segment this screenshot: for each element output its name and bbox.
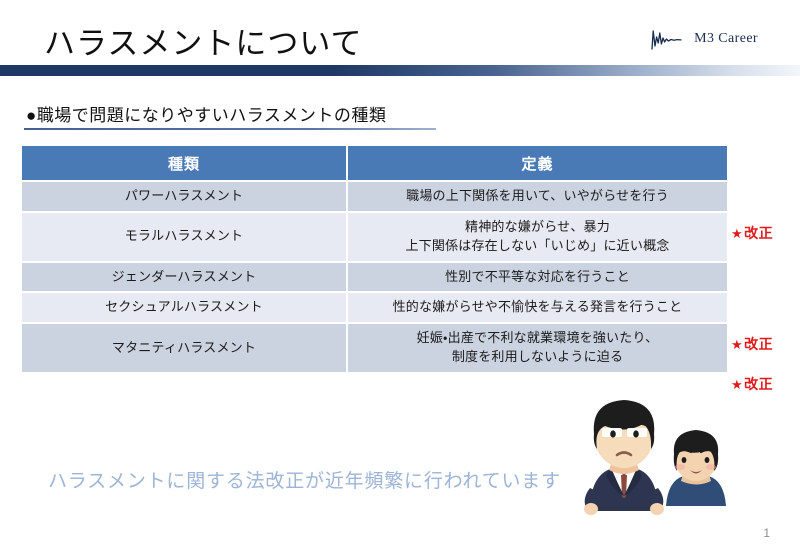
header-divider-bar — [0, 65, 800, 76]
subordinate-figure — [666, 430, 726, 506]
amendment-label: 改正 — [744, 336, 773, 352]
definition-line: 性的な嫌がらせや不愉快を与える発言を行うこと — [354, 298, 721, 317]
amendment-label: 改正 — [744, 225, 773, 241]
table-row: ジェンダーハラスメント性別で不平等な対応を行うこと — [22, 262, 727, 293]
cell-definition: 妊娠・出産で不利な就業環境を強いたり、制度を利用しないように迫る — [347, 323, 727, 372]
definition-line: 精神的な嫌がらせ、暴力 — [354, 218, 721, 237]
table-row: パワーハラスメント職場の上下関係を用いて、いやがらせを行う — [22, 181, 727, 212]
cell-definition: 性別で不平等な対応を行うこと — [347, 262, 727, 293]
brand-logo: M3 Career — [650, 28, 758, 50]
definition-line: 職場の上下関係を用いて、いやがらせを行う — [354, 187, 721, 206]
cell-harassment-type: パワーハラスメント — [22, 181, 347, 212]
cell-definition: 性的な嫌がらせや不愉快を与える発言を行うこと — [347, 292, 727, 323]
star-icon: ★ — [731, 337, 743, 352]
table-row: セクシュアルハラスメント性的な嫌がらせや不愉快を与える発言を行うこと — [22, 292, 727, 323]
definition-line: 制度を利用しないように迫る — [354, 348, 721, 367]
page-number: 1 — [763, 526, 770, 540]
definition-line: 妊娠・出産で不利な就業環境を強いたり、 — [354, 329, 721, 348]
page-title: ハラスメントについて — [44, 18, 362, 63]
section-heading-underline — [24, 128, 436, 130]
boss-figure — [584, 400, 664, 515]
column-header-type: 種類 — [22, 146, 347, 181]
definition-line: 上下関係は存在しない「いじめ」に近い概念 — [354, 237, 721, 256]
definition-line: 性別で不平等な対応を行うこと — [354, 268, 721, 287]
cell-harassment-type: マタニティハラスメント — [22, 323, 347, 372]
angry-boss-and-subordinate-illustration — [570, 378, 740, 533]
waveform-pulse-icon — [650, 28, 686, 50]
footer-message: ハラスメントに関する法改正が近年頻繁に行われています — [48, 466, 561, 493]
amendment-badge: ★改正 — [731, 334, 773, 354]
table-row: マタニティハラスメント妊娠・出産で不利な就業環境を強いたり、制度を利用しないよう… — [22, 323, 727, 372]
table-row: モラルハラスメント精神的な嫌がらせ、暴力上下関係は存在しない「いじめ」に近い概念 — [22, 212, 727, 262]
column-header-definition: 定義 — [347, 146, 727, 181]
cell-harassment-type: ジェンダーハラスメント — [22, 262, 347, 293]
amendment-badge: ★改正 — [731, 223, 773, 243]
section-heading: ●職場で問題になりやすいハラスメントの種類 — [26, 101, 386, 126]
cell-definition: 精神的な嫌がらせ、暴力上下関係は存在しない「いじめ」に近い概念 — [347, 212, 727, 262]
cell-definition: 職場の上下関係を用いて、いやがらせを行う — [347, 181, 727, 212]
amendment-label: 改正 — [744, 376, 773, 392]
star-icon: ★ — [731, 226, 743, 241]
harassment-types-table: 種類 定義 パワーハラスメント職場の上下関係を用いて、いやがらせを行うモラルハラ… — [22, 146, 727, 372]
table-header-row: 種類 定義 — [22, 146, 727, 181]
brand-logo-text: M3 Career — [694, 31, 758, 47]
slide: ハラスメントについて M3 Career ●職場で問題になりやすいハラスメントの… — [0, 0, 800, 554]
cell-harassment-type: セクシュアルハラスメント — [22, 292, 347, 323]
cell-harassment-type: モラルハラスメント — [22, 212, 347, 262]
